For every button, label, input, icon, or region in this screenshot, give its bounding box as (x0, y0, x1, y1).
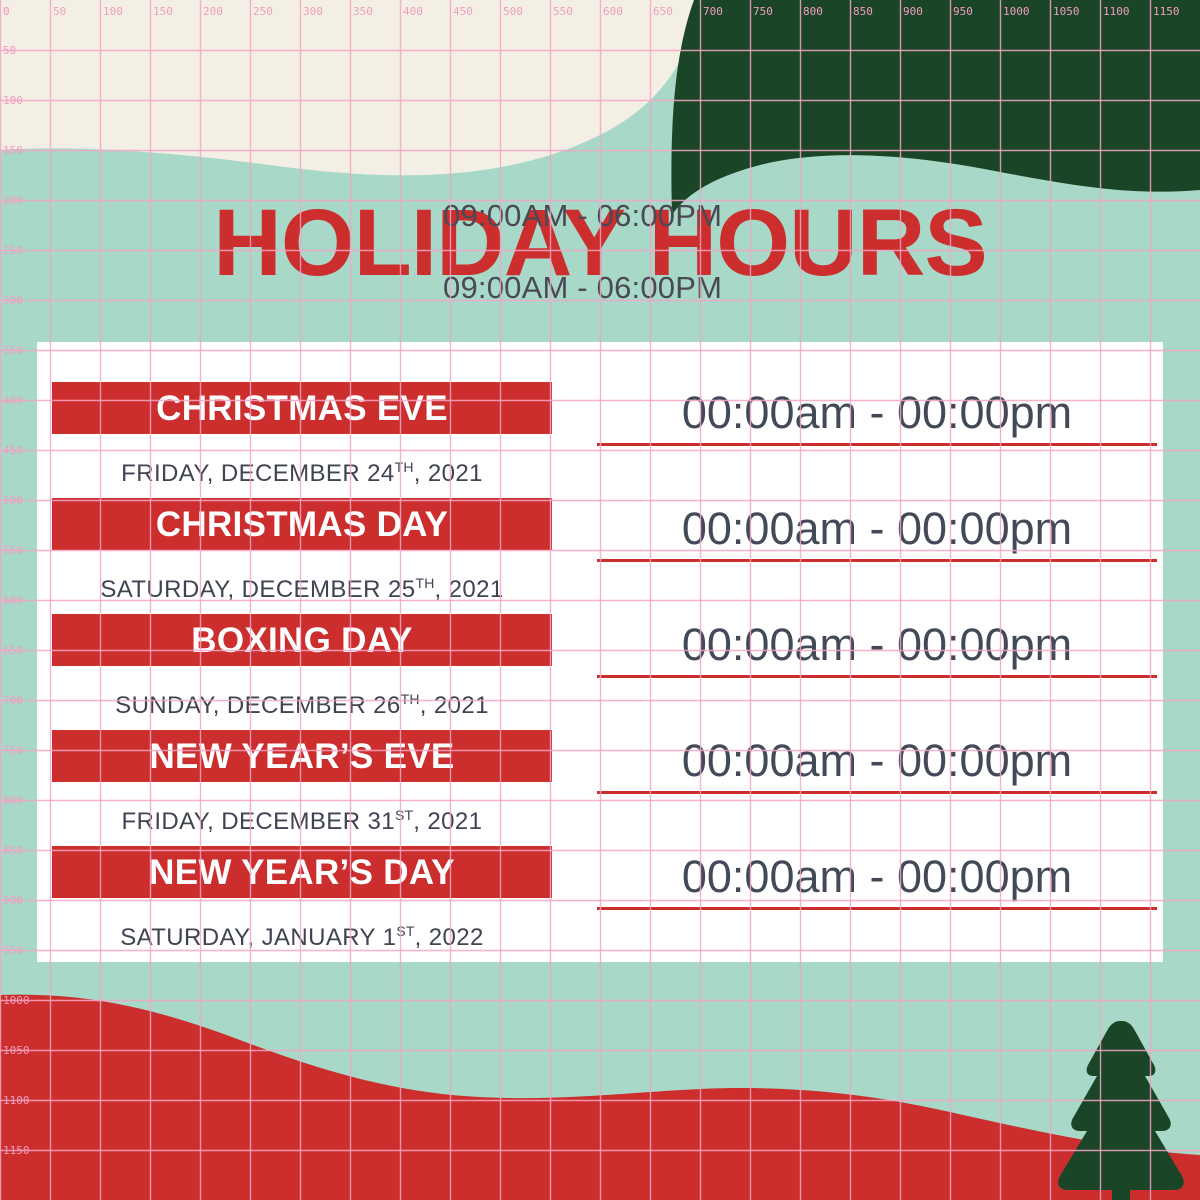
hours-underline (597, 559, 1157, 562)
ghost-hours-label-2: 09:00AM - 06:00PM (443, 272, 722, 303)
poster-canvas: HOLIDAY HOURS 09:00AM - 06:00PM 09:00AM … (0, 0, 1200, 1200)
day-badge: NEW YEAR’S DAY (52, 846, 552, 898)
day-badge: BOXING DAY (52, 614, 552, 666)
hours-underline (597, 675, 1157, 678)
hours-value[interactable]: 00:00am - 00:00pm (597, 854, 1157, 899)
day-label: CHRISTMAS DAY (156, 507, 448, 542)
table-row[interactable]: BOXING DAY SUNDAY, DECEMBER 26TH, 2021 0… (37, 574, 1163, 697)
hours-underline (597, 907, 1157, 910)
day-label: NEW YEAR’S DAY (149, 855, 455, 890)
day-badge: NEW YEAR’S EVE (52, 730, 552, 782)
hours-underline (597, 443, 1157, 446)
table-row[interactable]: NEW YEAR’S EVE FRIDAY, DECEMBER 31ST, 20… (37, 690, 1163, 813)
date-suffix: , 2022 (415, 924, 484, 951)
day-label: CHRISTMAS EVE (156, 391, 448, 426)
hours-value[interactable]: 00:00am - 00:00pm (597, 506, 1157, 551)
day-badge: CHRISTMAS DAY (52, 498, 552, 550)
date-prefix: SATURDAY, JANUARY 1 (120, 924, 396, 951)
schedule-card: CHRISTMAS EVE FRIDAY, DECEMBER 24TH, 202… (37, 342, 1163, 962)
table-row[interactable]: CHRISTMAS DAY SATURDAY, DECEMBER 25TH, 2… (37, 458, 1163, 581)
hours-value[interactable]: 00:00am - 00:00pm (597, 622, 1157, 667)
hours-underline (597, 791, 1157, 794)
day-label: NEW YEAR’S EVE (149, 739, 454, 774)
day-badge: CHRISTMAS EVE (52, 382, 552, 434)
table-row[interactable]: CHRISTMAS EVE FRIDAY, DECEMBER 24TH, 202… (37, 342, 1163, 465)
hours-value[interactable]: 00:00am - 00:00pm (597, 738, 1157, 783)
date-ordinal: ST (396, 923, 414, 939)
table-row[interactable]: NEW YEAR’S DAY SATURDAY, JANUARY 1ST, 20… (37, 806, 1163, 929)
date-label: SATURDAY, JANUARY 1ST, 2022 (52, 919, 552, 950)
ghost-hours-label-1: 09:00AM - 06:00PM (443, 200, 722, 231)
day-label: BOXING DAY (191, 623, 412, 658)
hours-value[interactable]: 00:00am - 00:00pm (597, 390, 1157, 435)
